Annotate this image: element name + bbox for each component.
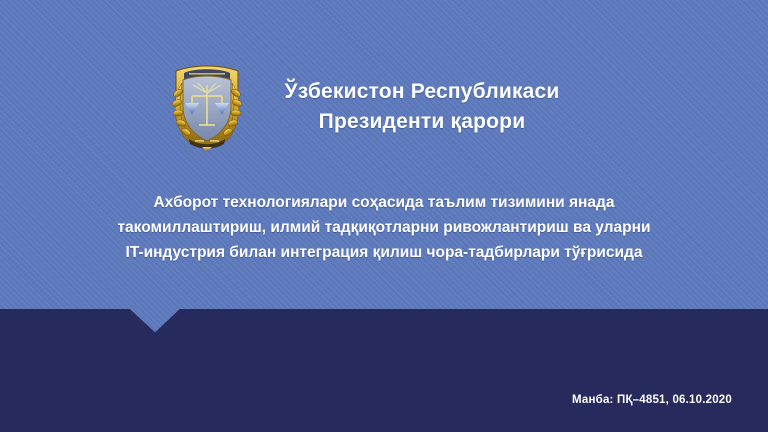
decree-body-text: Ахборот технологиялари соҳасида таълим т… <box>0 190 768 265</box>
header-title-block: Ўзбекистон Республикаси Президенти қарор… <box>284 77 559 137</box>
source-citation: Манба: ПҚ–4851, 06.10.2020 <box>572 394 732 406</box>
decree-body-line-1: Ахборот технологиялари соҳасида таълим т… <box>0 190 768 215</box>
footer-band <box>0 309 768 432</box>
header-title-line-2: Президенти қарори <box>284 107 559 137</box>
presentation-slide: Ўзбекистон Республикаси Президенти қарор… <box>0 0 768 432</box>
slide-header: Ўзбекистон Республикаси Президенти қарор… <box>0 62 768 152</box>
uzbekistan-justice-emblem-icon <box>168 63 246 151</box>
header-title-line-1: Ўзбекистон Республикаси <box>284 77 559 107</box>
decree-body-line-3: IT-индустрия билан интеграция қилиш чора… <box>0 240 768 265</box>
decree-body-line-2: такомиллаштириш, илмий тадқиқотларни рив… <box>0 215 768 240</box>
